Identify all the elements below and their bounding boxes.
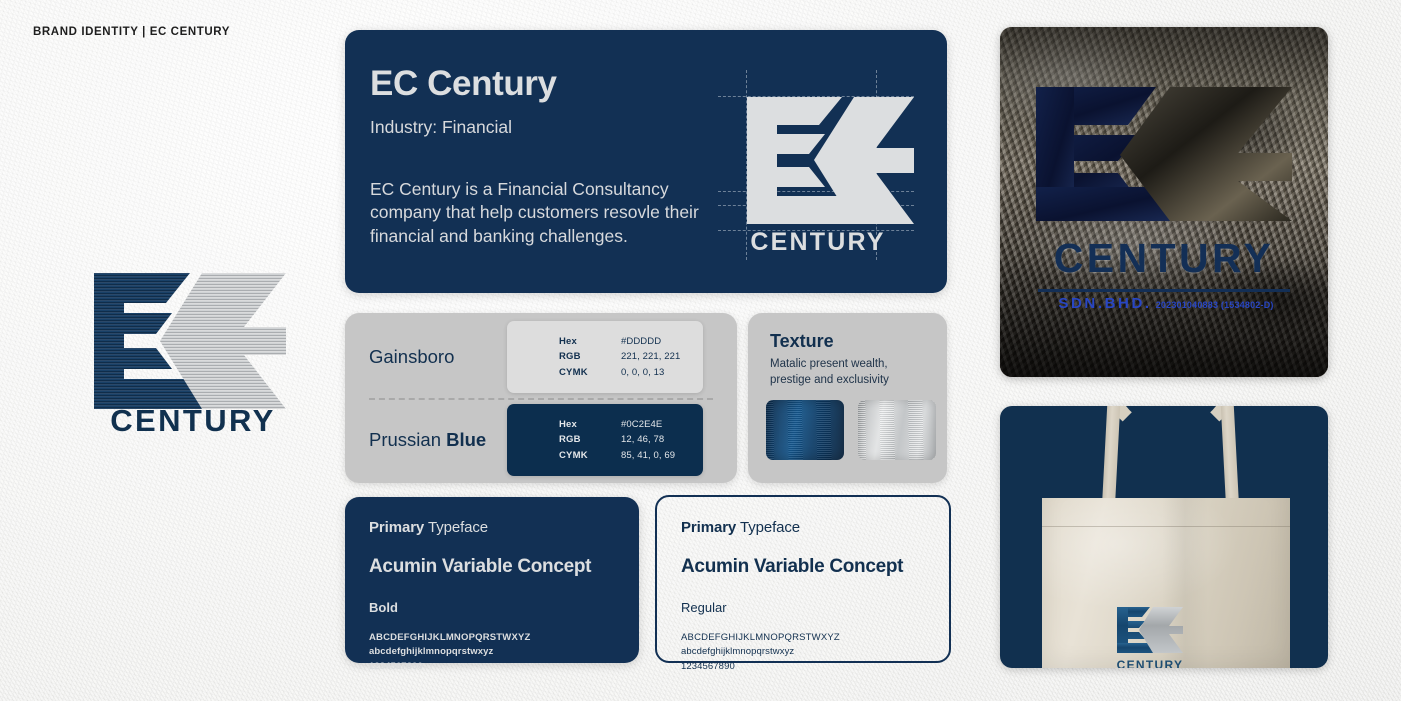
spec-value: 0, 0, 0, 13 bbox=[621, 365, 664, 380]
tote-handle-right bbox=[1218, 406, 1239, 504]
swatch-name-gainsboro: Gainsboro bbox=[369, 346, 454, 368]
brushed-silver-metal-swatch bbox=[858, 400, 936, 460]
swatch-spec-row: Hex #DDDDD bbox=[559, 334, 680, 349]
brand-logo-primary: CENTURY bbox=[86, 255, 300, 435]
spec-value: 85, 41, 0, 69 bbox=[621, 448, 675, 463]
signage-logo-mark bbox=[1030, 69, 1298, 231]
spec-value: #0C2E4E bbox=[621, 417, 662, 432]
signage-subline: SDN.BHD. 202301040883 (1534802-D) bbox=[1038, 295, 1294, 312]
logo-construction-guides: CENTURY bbox=[718, 70, 914, 260]
tote-bag-image: CENTURY bbox=[1000, 406, 1328, 668]
hero-title: EC Century bbox=[370, 64, 557, 104]
swatch-spec-row: CYMK 0, 0, 0, 13 bbox=[559, 365, 680, 380]
spec-key: Hex bbox=[559, 417, 621, 432]
swatch-spec-row: RGB 221, 221, 221 bbox=[559, 349, 680, 364]
tote-bag-mockup: CENTURY bbox=[1000, 406, 1328, 668]
signage-registration-number: 202301040883 (1534802-D) bbox=[1156, 300, 1274, 310]
specimen-numerals: 1234567890 bbox=[369, 660, 615, 674]
typeface-specimen: ABCDEFGHIJKLMNOPQRSTWXYZ abcdefghijklmno… bbox=[681, 631, 925, 674]
typeface-specimen: ABCDEFGHIJKLMNOPQRSTWXYZ abcdefghijklmno… bbox=[369, 631, 615, 674]
specimen-uppercase: ABCDEFGHIJKLMNOPQRSTWXYZ bbox=[681, 631, 925, 645]
tote-body: CENTURY bbox=[1042, 498, 1290, 668]
swatch-spec-row: RGB 12, 46, 78 bbox=[559, 432, 675, 447]
swatch-spec-table: Hex #DDDDD RGB 221, 221, 221 CYMK 0, 0, … bbox=[559, 334, 680, 380]
tote-wordmark: CENTURY bbox=[1110, 658, 1190, 668]
typography-card-bold: Primary Typeface Acumin Variable Concept… bbox=[345, 497, 639, 663]
texture-card: Texture Matalic present wealth, prestige… bbox=[748, 313, 947, 483]
spec-key: CYMK bbox=[559, 365, 621, 380]
tote-handle-arc bbox=[1104, 406, 1238, 440]
spec-key: RGB bbox=[559, 349, 621, 364]
swatch-spec-table: Hex #0C2E4E RGB 12, 46, 78 CYMK 85, 41, … bbox=[559, 417, 675, 463]
presentation-stage: BRAND IDENTITY | EC CENTURY bbox=[0, 0, 1401, 701]
specimen-lowercase: abcdefghijklmnopqrstwxyz bbox=[369, 645, 615, 659]
spec-value: 221, 221, 221 bbox=[621, 349, 680, 364]
typeface-weight-name: Bold bbox=[369, 600, 615, 615]
texture-title: Texture bbox=[770, 331, 834, 352]
spec-value: #DDDDD bbox=[621, 334, 661, 349]
stone-signage-mockup: CENTURY SDN.BHD. 202301040883 (1534802-D… bbox=[1000, 27, 1328, 377]
specimen-uppercase: ABCDEFGHIJKLMNOPQRSTWXYZ bbox=[369, 631, 615, 645]
swatch-spec-row: Hex #0C2E4E bbox=[559, 417, 675, 432]
spec-key: Hex bbox=[559, 334, 621, 349]
hero-card: EC Century Industry: Financial EC Centur… bbox=[345, 30, 947, 293]
signage-company-suffix: SDN.BHD. bbox=[1058, 295, 1151, 312]
brushed-blue-metal-swatch bbox=[766, 400, 844, 460]
swatch-chip-gainsboro: Hex #DDDDD RGB 221, 221, 221 CYMK 0, 0, … bbox=[507, 321, 703, 393]
typography-card-regular: Primary Typeface Acumin Variable Concept… bbox=[655, 495, 951, 663]
typeface-family-name: Acumin Variable Concept bbox=[369, 556, 615, 578]
hero-industry: Industry: Financial bbox=[370, 117, 512, 138]
swatch-row-prussian-blue: Prussian Blue Hex #0C2E4E RGB 12, 46, 78… bbox=[345, 404, 737, 476]
signage-rule bbox=[1038, 289, 1290, 292]
spec-key: CYMK bbox=[559, 448, 621, 463]
spec-value: 12, 46, 78 bbox=[621, 432, 664, 447]
typeface-weight-name: Regular bbox=[681, 600, 925, 615]
typography-label: Primary Typeface bbox=[369, 519, 615, 536]
spec-key: RGB bbox=[559, 432, 621, 447]
page-title: BRAND IDENTITY | EC CENTURY bbox=[33, 26, 230, 38]
hero-description: EC Century is a Financial Consultancy co… bbox=[370, 178, 700, 248]
tote-printed-logo bbox=[1114, 602, 1186, 658]
swatch-chip-prussian-blue: Hex #0C2E4E RGB 12, 46, 78 CYMK 85, 41, … bbox=[507, 404, 703, 476]
swatch-name-prussian-blue: Prussian Blue bbox=[369, 429, 486, 451]
swatch-row-gainsboro: Gainsboro Hex #DDDDD RGB 221, 221, 221 C… bbox=[345, 321, 737, 393]
tote-handle-left bbox=[1102, 406, 1123, 504]
typeface-family-name: Acumin Variable Concept bbox=[681, 556, 925, 578]
specimen-lowercase: abcdefghijklmnopqrstwxyz bbox=[681, 645, 925, 659]
palette-divider bbox=[369, 398, 713, 400]
signage-wordmark: CENTURY bbox=[1036, 235, 1292, 282]
hero-logo-mark: CENTURY bbox=[718, 70, 914, 260]
color-palette-card: Gainsboro Hex #DDDDD RGB 221, 221, 221 C… bbox=[345, 313, 737, 483]
brand-logo-wordmark: CENTURY bbox=[110, 403, 276, 435]
specimen-numerals: 1234567890 bbox=[681, 660, 925, 674]
typography-label: Primary Typeface bbox=[681, 519, 925, 536]
texture-description: Matalic present wealth, prestige and exc… bbox=[770, 357, 930, 388]
hero-logo-wordmark: CENTURY bbox=[750, 228, 885, 256]
swatch-spec-row: CYMK 85, 41, 0, 69 bbox=[559, 448, 675, 463]
